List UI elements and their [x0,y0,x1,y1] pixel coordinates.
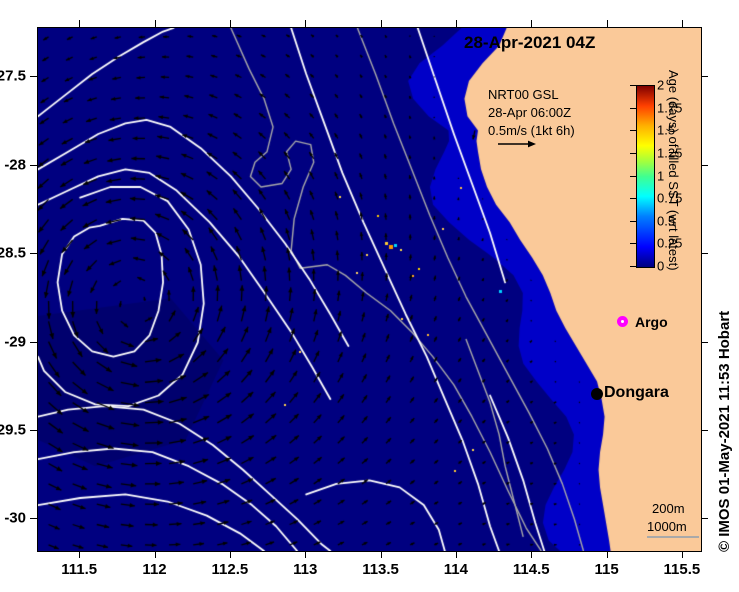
y-tick-left [30,430,37,431]
y-tick-right [701,165,708,166]
x-tick-bottom [531,551,532,558]
vector-key-scale: 0.5m/s (1kt 6h) [488,123,575,138]
colorbar-title: Age (days) of filled SST (wrt latest) [666,70,681,280]
colorbar-tick [630,243,636,244]
x-tick-bottom [79,551,80,558]
colorbar-tick [630,176,636,177]
x-axis-label: 113 [293,561,317,578]
x-tick-bottom [305,551,306,558]
y-tick-right [701,342,708,343]
colorbar-tick [630,198,636,199]
y-tick-left [30,253,37,254]
x-tick-bottom [607,551,608,558]
x-axis-label: 115.5 [664,561,701,578]
colorbar-tick [630,266,636,267]
x-tick-top [531,20,532,27]
x-tick-top [381,20,382,27]
x-axis-label: 115 [594,561,618,578]
x-axis-label: 111.5 [61,561,97,578]
y-tick-left [30,76,37,77]
map-date-title: 28-Apr-2021 04Z [464,33,595,53]
bathymetry-200m-label: 200m [652,501,685,516]
x-axis-label: 112.5 [212,561,249,578]
y-axis-label: -29.5 [0,421,26,438]
vector-key-source: NRT00 GSL [488,87,559,102]
y-tick-right [701,76,708,77]
x-tick-top [305,20,306,27]
dongara-label: Dongara [604,384,669,402]
imos-credit-text: © IMOS 01-May-2021 11:53 Hobart [716,311,733,552]
y-tick-right [701,253,708,254]
x-axis-label: 113.5 [362,561,399,578]
colorbar-tick [630,153,636,154]
colorbar-tick-label: 1 [657,169,664,184]
x-tick-top [79,20,80,27]
colorbar-tick-label: 0 [657,259,664,274]
sst-age-map-canvas [38,28,701,551]
x-tick-top [155,20,156,27]
dongara-city-marker[interactable] [591,388,603,400]
y-axis-label: -27.5 [0,68,26,85]
x-axis-label: 114 [444,561,468,578]
bathymetry-1000m-label: 1000m [647,519,687,534]
argo-label: Argo [635,314,668,330]
vector-key-arrow-icon [498,137,538,149]
colorbar-tick-label: 2 [657,78,664,93]
colorbar-gradient [636,85,655,268]
y-tick-left [30,342,37,343]
x-tick-bottom [682,551,683,558]
x-tick-bottom [155,551,156,558]
colorbar-tick [630,108,636,109]
x-axis-label: 114.5 [513,561,550,578]
vector-key-time: 28-Apr 06:00Z [488,105,571,120]
colorbar-tick [630,221,636,222]
y-axis-label: -30 [4,510,26,527]
y-tick-right [701,430,708,431]
x-tick-top [230,20,231,27]
x-tick-top [607,20,608,27]
argo-float-marker[interactable] [617,316,628,327]
y-tick-left [30,518,37,519]
bathymetry-scale-rule [647,536,699,538]
colorbar-tick [630,130,636,131]
x-axis-label: 112 [142,561,166,578]
x-tick-bottom [456,551,457,558]
x-tick-bottom [381,551,382,558]
x-tick-top [682,20,683,27]
colorbar-tick [630,85,636,86]
y-tick-right [701,518,708,519]
y-tick-left [30,165,37,166]
y-axis-label: -28.5 [0,245,26,262]
y-axis-label: -28 [4,156,26,173]
x-tick-bottom [230,551,231,558]
screenshot-root: 28-Apr-2021 04Z NRT00 GSL 28-Apr 06:00Z … [0,0,739,592]
x-tick-top [456,20,457,27]
y-axis-label: -29 [4,333,26,350]
map-plot-frame: 28-Apr-2021 04Z NRT00 GSL 28-Apr 06:00Z … [37,27,702,552]
